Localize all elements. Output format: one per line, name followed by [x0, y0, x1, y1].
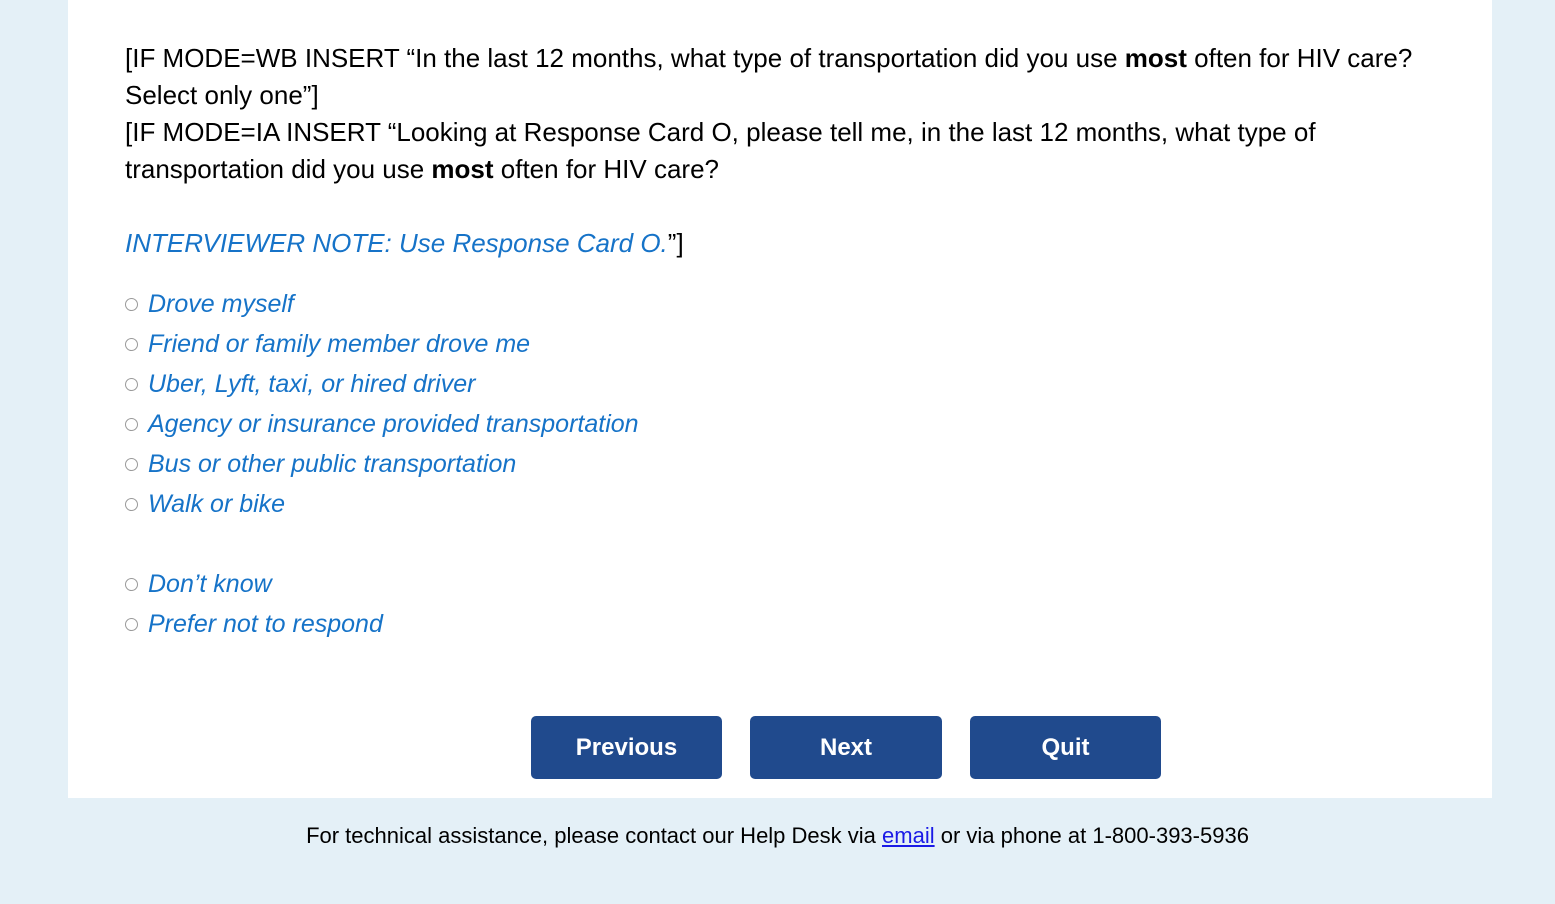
radio-icon[interactable]	[125, 498, 138, 511]
option-friend-or-family-drove-me[interactable]: Friend or family member drove me	[125, 324, 1462, 364]
option-label: Bus or other public transportation	[148, 449, 516, 479]
option-prefer-not-to-respond[interactable]: Prefer not to respond	[125, 604, 1462, 644]
radio-icon[interactable]	[125, 618, 138, 631]
option-dont-know[interactable]: Don’t know	[125, 564, 1462, 604]
option-label: Agency or insurance provided transportat…	[148, 409, 639, 439]
option-label: Drove myself	[148, 289, 294, 319]
option-label: Walk or bike	[148, 489, 285, 519]
option-label: Friend or family member drove me	[148, 329, 530, 359]
navigation-buttons: Previous Next Quit	[531, 716, 1161, 779]
question-card: [IF MODE=WB INSERT “In the last 12 month…	[68, 0, 1492, 798]
option-label: Uber, Lyft, taxi, or hired driver	[148, 369, 475, 399]
option-label: Prefer not to respond	[148, 609, 383, 639]
question-line1-bold: most	[1125, 43, 1187, 73]
option-bus-or-public-transport[interactable]: Bus or other public transportation	[125, 444, 1462, 484]
email-link[interactable]: email	[882, 823, 935, 848]
option-agency-or-insurance-transport[interactable]: Agency or insurance provided transportat…	[125, 404, 1462, 444]
card-content: [IF MODE=WB INSERT “In the last 12 month…	[125, 40, 1462, 644]
question-line2-suffix: often for HIV care?	[494, 154, 719, 184]
survey-page: [IF MODE=WB INSERT “In the last 12 month…	[0, 0, 1555, 904]
previous-button[interactable]: Previous	[531, 716, 722, 779]
option-group-separator	[125, 524, 1462, 564]
radio-icon[interactable]	[125, 378, 138, 391]
option-walk-or-bike[interactable]: Walk or bike	[125, 484, 1462, 524]
radio-icon[interactable]	[125, 418, 138, 431]
option-uber-lyft-taxi[interactable]: Uber, Lyft, taxi, or hired driver	[125, 364, 1462, 404]
help-desk-footer: For technical assistance, please contact…	[0, 823, 1555, 849]
question-text: [IF MODE=WB INSERT “In the last 12 month…	[125, 40, 1462, 188]
response-options: Drove myself Friend or family member dro…	[125, 284, 1462, 644]
quit-button[interactable]: Quit	[970, 716, 1161, 779]
question-line1-prefix: [IF MODE=WB INSERT “In the last 12 month…	[125, 43, 1125, 73]
question-line2-prefix: [IF MODE=IA INSERT “Looking at Response …	[125, 117, 1316, 184]
radio-icon[interactable]	[125, 338, 138, 351]
interviewer-note-text: INTERVIEWER NOTE: Use Response Card O.	[125, 228, 668, 258]
footer-text-after-link: or via phone at 1-800-393-5936	[935, 823, 1249, 848]
question-line2-bold: most	[431, 154, 493, 184]
footer-text-before-link: For technical assistance, please contact…	[306, 823, 882, 848]
interviewer-note: INTERVIEWER NOTE: Use Response Card O.”]	[125, 225, 1462, 262]
interviewer-note-tail: ”]	[668, 228, 684, 258]
next-button[interactable]: Next	[750, 716, 942, 779]
radio-icon[interactable]	[125, 458, 138, 471]
option-drove-myself[interactable]: Drove myself	[125, 284, 1462, 324]
radio-icon[interactable]	[125, 578, 138, 591]
option-label: Don’t know	[148, 569, 272, 599]
radio-icon[interactable]	[125, 298, 138, 311]
